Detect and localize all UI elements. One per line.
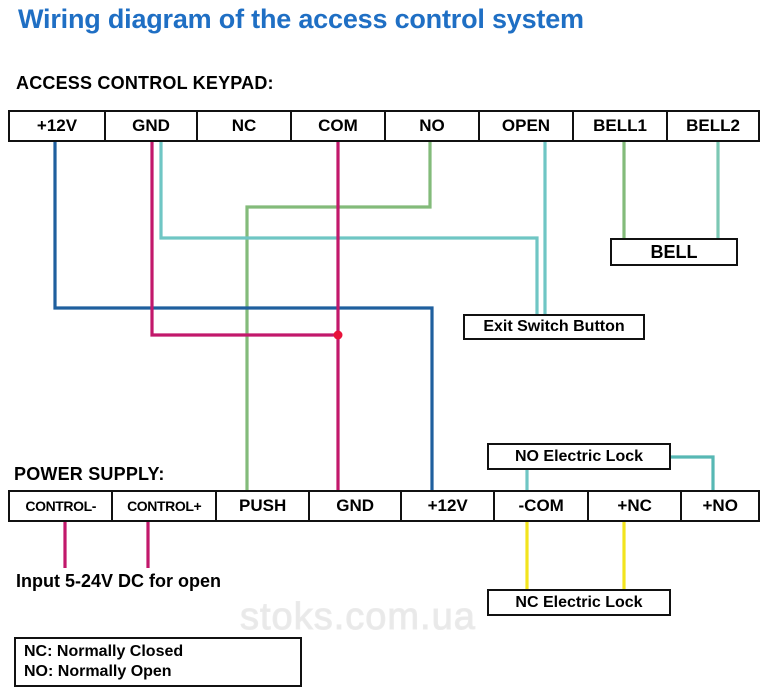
wiring-diagram-canvas: Wiring diagram of the access control sys… [0, 0, 767, 699]
access-control-keypad-label: ACCESS CONTROL KEYPAD: [16, 73, 274, 94]
supply-terminal-control-plus[interactable]: CONTROL+ [113, 492, 216, 520]
wire-12v-keypad-to-supply [55, 142, 432, 490]
keypad-terminal-gnd[interactable]: GND [106, 112, 198, 140]
keypad-terminal-no[interactable]: NO [386, 112, 480, 140]
wire-gnd-keypad-to-supply-gnd [152, 142, 338, 490]
legend-no: NO: Normally Open [24, 662, 292, 682]
supply-terminal-com[interactable]: -COM [495, 492, 589, 520]
keypad-terminal-open[interactable]: OPEN [480, 112, 574, 140]
no-electric-lock-device: NO Electric Lock [487, 443, 671, 470]
supply-terminal-nc[interactable]: +NC [589, 492, 683, 520]
page-title: Wiring diagram of the access control sys… [18, 4, 584, 35]
supply-terminal-no[interactable]: +NO [682, 492, 758, 520]
keypad-terminal-bell1[interactable]: BELL1 [574, 112, 668, 140]
keypad-terminal-com[interactable]: COM [292, 112, 386, 140]
power-supply-terminal-row: CONTROL- CONTROL+ PUSH GND +12V -COM +NC… [8, 490, 760, 522]
bell-device: BELL [610, 238, 738, 266]
wire-no-lock-to-plus-no [671, 457, 713, 490]
junction-dot [334, 331, 343, 340]
keypad-terminal-12v[interactable]: +12V [10, 112, 106, 140]
exit-switch-button-device[interactable]: Exit Switch Button [463, 314, 645, 340]
keypad-terminal-nc[interactable]: NC [198, 112, 292, 140]
watermark: stoks.com.ua [240, 596, 476, 639]
wire-gnd-to-exit-switch [161, 142, 537, 314]
supply-terminal-12v[interactable]: +12V [402, 492, 496, 520]
supply-terminal-gnd[interactable]: GND [310, 492, 402, 520]
input-voltage-note: Input 5-24V DC for open [16, 571, 221, 592]
legend-box: NC: Normally Closed NO: Normally Open [14, 637, 302, 687]
nc-electric-lock-device: NC Electric Lock [487, 589, 671, 616]
supply-terminal-control-minus[interactable]: CONTROL- [10, 492, 113, 520]
keypad-terminal-bell2[interactable]: BELL2 [668, 112, 758, 140]
wire-no-to-push [247, 142, 430, 490]
supply-terminal-push[interactable]: PUSH [217, 492, 311, 520]
power-supply-label: POWER SUPPLY: [14, 464, 165, 485]
legend-nc: NC: Normally Closed [24, 642, 292, 662]
keypad-terminal-row: +12V GND NC COM NO OPEN BELL1 BELL2 [8, 110, 760, 142]
